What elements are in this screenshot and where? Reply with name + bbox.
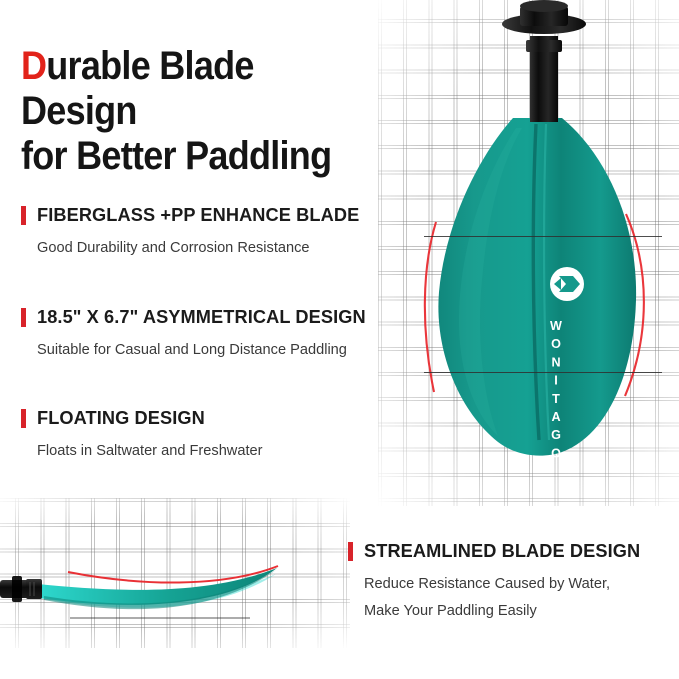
feature-title: 18.5" X 6.7" ASYMMETRICAL DESIGN xyxy=(37,307,366,328)
feature-subtitle: Suitable for Casual and Long Distance Pa… xyxy=(37,339,366,362)
feature-subtitle: Good Durability and Corrosion Resistance xyxy=(37,237,359,260)
feature-subtitle: Floats in Saltwater and Freshwater xyxy=(37,440,263,463)
red-bar-icon xyxy=(21,308,26,327)
red-bar-icon xyxy=(348,542,353,561)
feature-item-streamlined: STREAMLINED BLADE DESIGN Reduce Resistan… xyxy=(348,541,640,622)
ferrule-collar xyxy=(526,40,562,52)
feature-subtitle: Reduce Resistance Caused by Water, xyxy=(364,573,640,596)
blade-width-reference-line xyxy=(424,236,662,237)
feature-title: FLOATING DESIGN xyxy=(37,408,205,429)
feature-heading-row: FLOATING DESIGN xyxy=(21,408,263,429)
ferrule-collar xyxy=(12,576,22,602)
feature-heading-row: 18.5" X 6.7" ASYMMETRICAL DESIGN xyxy=(21,307,366,328)
blade-length-reference-line xyxy=(424,372,662,373)
headline-line-2: for Better Paddling xyxy=(21,134,331,178)
page-title: Durable Blade Design for Better Paddling xyxy=(21,44,372,178)
headline-drop-cap: D xyxy=(21,44,46,88)
kayak-paddle-blade-front-view xyxy=(412,0,679,470)
product-infographic: Durable Blade Design for Better Paddling… xyxy=(0,0,679,679)
red-bar-icon xyxy=(21,206,26,225)
red-blade-contour-overlay xyxy=(425,222,436,392)
feature-title: FIBERGLASS +PP ENHANCE BLADE xyxy=(37,205,359,226)
shaft-cap xyxy=(520,0,568,12)
kayak-paddle-blade-profile-view xyxy=(0,530,345,640)
red-bar-icon xyxy=(21,409,26,428)
feature-subtitle-line-2: Make Your Paddling Easily xyxy=(364,600,640,623)
feature-heading-row: STREAMLINED BLADE DESIGN xyxy=(348,541,640,562)
feature-item-asymmetrical: 18.5" X 6.7" ASYMMETRICAL DESIGN Suitabl… xyxy=(21,307,366,362)
headline-line-1: urable Blade Design xyxy=(21,44,254,133)
feature-item-fiberglass: FIBERGLASS +PP ENHANCE BLADE Good Durabi… xyxy=(21,205,359,260)
feature-heading-row: FIBERGLASS +PP ENHANCE BLADE xyxy=(21,205,359,226)
feature-item-floating: FLOATING DESIGN Floats in Saltwater and … xyxy=(21,408,263,463)
feature-title: STREAMLINED BLADE DESIGN xyxy=(364,541,640,562)
